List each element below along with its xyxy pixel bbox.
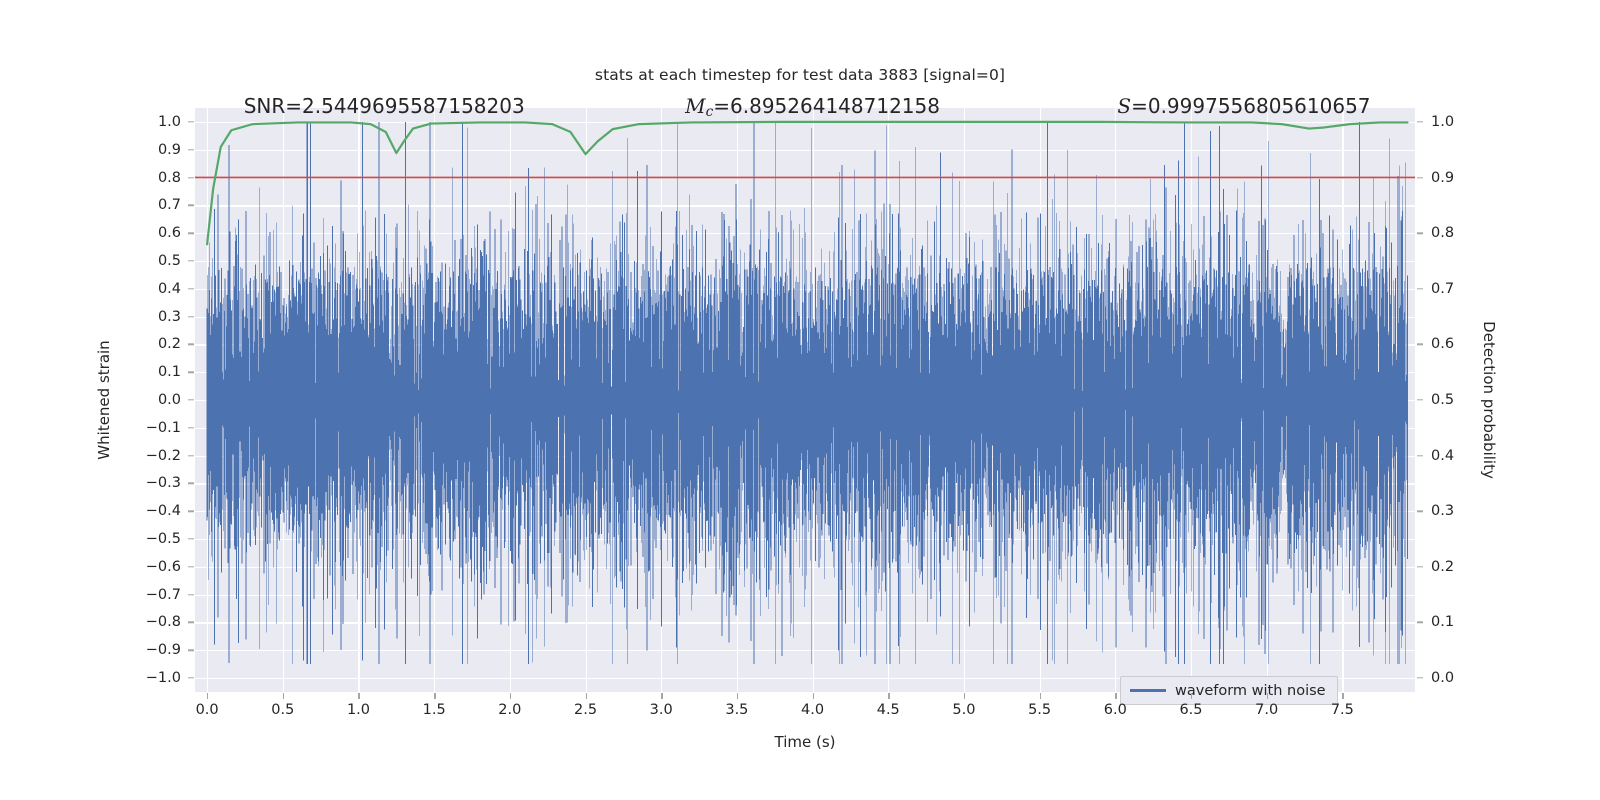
legend[interactable]: waveform with noise <box>1120 676 1338 705</box>
x-tick-mark <box>510 693 511 699</box>
y-tick-label-left: 0.9 <box>158 142 181 158</box>
x-tick-mark <box>661 693 662 699</box>
y-tick-mark-right <box>1417 121 1423 122</box>
x-tick-label: 2.5 <box>574 702 597 718</box>
y-tick-label-right: 0.3 <box>1431 503 1454 519</box>
y-tick-label-right: 0.6 <box>1431 336 1454 352</box>
x-tick-mark <box>283 693 284 699</box>
y-tick-label-left: −0.5 <box>146 531 181 547</box>
y-tick-mark-left <box>188 511 194 512</box>
y-tick-label-left: 0.3 <box>158 309 181 325</box>
y-tick-label-right: 0.5 <box>1431 392 1454 408</box>
x-tick-mark <box>964 693 965 699</box>
y-tick-mark-left <box>188 650 194 651</box>
y-tick-mark-right <box>1417 622 1423 623</box>
y-tick-label-left: −0.7 <box>146 587 181 603</box>
x-tick-label: 0.0 <box>196 702 219 718</box>
y-tick-label-left: 0.6 <box>158 225 181 241</box>
x-tick-mark <box>1191 693 1192 699</box>
x-tick-label: 4.5 <box>877 702 900 718</box>
y-tick-mark-left <box>188 344 194 345</box>
chirp-mass-symbol: M <box>685 94 705 118</box>
y-tick-label-left: −0.1 <box>146 420 181 436</box>
y-tick-label-left: 0.4 <box>158 281 181 297</box>
y-tick-label-left: −0.4 <box>146 503 181 519</box>
y-tick-mark-left <box>188 455 194 456</box>
x-tick-label: 1.5 <box>423 702 446 718</box>
y-tick-label-left: −0.9 <box>146 642 181 658</box>
y-tick-mark-left <box>188 594 194 595</box>
chirp-mass-subscript: c <box>706 104 714 120</box>
x-tick-mark <box>358 693 359 699</box>
y-tick-mark-left <box>188 316 194 317</box>
y-tick-mark-left <box>188 232 194 233</box>
x-tick-mark <box>1115 693 1116 699</box>
annotation-snr: SNR=2.5449695587158203 <box>244 94 525 118</box>
x-tick-label: 7.0 <box>1255 702 1278 718</box>
x-tick-label: 0.5 <box>271 702 294 718</box>
y-tick-mark-left <box>188 288 194 289</box>
y-tick-label-left: −0.3 <box>146 475 181 491</box>
y-tick-mark-left <box>188 538 194 539</box>
y-tick-label-right: 0.2 <box>1431 559 1454 575</box>
x-tick-label: 6.5 <box>1179 702 1202 718</box>
score-value: =0.9997556805610657 <box>1131 94 1370 118</box>
y-tick-mark-left <box>188 177 194 178</box>
y-tick-label-left: −0.8 <box>146 614 181 630</box>
x-tick-mark <box>207 693 208 699</box>
y-tick-label-left: 0.8 <box>158 170 181 186</box>
y-tick-label-right: 1.0 <box>1431 114 1454 130</box>
chirp-mass-value: =6.895264148712158 <box>713 94 940 118</box>
y-tick-label-left: 0.7 <box>158 197 181 213</box>
y-tick-mark-left <box>188 260 194 261</box>
y-axis-right-label: Detection probability <box>1480 321 1498 479</box>
x-tick-label: 3.5 <box>725 702 748 718</box>
y-tick-label-left: 0.2 <box>158 336 181 352</box>
x-tick-mark <box>813 693 814 699</box>
x-tick-label: 4.0 <box>801 702 824 718</box>
x-tick-label: 1.0 <box>347 702 370 718</box>
y-tick-mark-right <box>1417 511 1423 512</box>
y-tick-mark-right <box>1417 677 1423 678</box>
y-tick-label-left: 0.0 <box>158 392 181 408</box>
legend-swatch-waveform <box>1130 689 1166 692</box>
y-tick-mark-left <box>188 483 194 484</box>
y-tick-mark-left <box>188 677 194 678</box>
y-tick-label-right: 0.0 <box>1431 670 1454 686</box>
y-axis-left-label: Whitened strain <box>95 340 113 459</box>
y-tick-mark-right <box>1417 177 1423 178</box>
x-tick-label: 7.5 <box>1331 702 1354 718</box>
x-tick-mark <box>586 693 587 699</box>
y-tick-label-right: 0.9 <box>1431 170 1454 186</box>
y-tick-label-left: 1.0 <box>158 114 181 130</box>
y-tick-label-left: 0.1 <box>158 364 181 380</box>
legend-label-waveform: waveform with noise <box>1175 683 1326 699</box>
annotation-chirp-mass: Mc=6.895264148712158 <box>685 94 940 120</box>
x-tick-mark <box>1267 693 1268 699</box>
x-tick-mark <box>1040 693 1041 699</box>
y-tick-mark-left <box>188 566 194 567</box>
y-tick-label-left: 0.5 <box>158 253 181 269</box>
y-tick-mark-right <box>1417 566 1423 567</box>
x-tick-label: 5.0 <box>952 702 975 718</box>
score-symbol: S <box>1117 94 1131 118</box>
y-tick-label-left: −0.6 <box>146 559 181 575</box>
y-tick-mark-left <box>188 149 194 150</box>
figure-canvas: stats at each timestep for test data 388… <box>0 0 1600 800</box>
y-tick-mark-right <box>1417 399 1423 400</box>
x-tick-mark <box>888 693 889 699</box>
y-tick-mark-left <box>188 205 194 206</box>
annotation-score: S=0.9997556805610657 <box>1117 94 1370 118</box>
y-tick-mark-right <box>1417 288 1423 289</box>
y-tick-label-right: 0.1 <box>1431 614 1454 630</box>
x-tick-label: 2.0 <box>498 702 521 718</box>
y-tick-mark-left <box>188 371 194 372</box>
y-tick-mark-left <box>188 622 194 623</box>
x-tick-mark <box>737 693 738 699</box>
y-tick-label-right: 0.4 <box>1431 448 1454 464</box>
y-tick-label-left: −0.2 <box>146 448 181 464</box>
y-tick-mark-left <box>188 399 194 400</box>
x-axis-label: Time (s) <box>775 733 836 751</box>
y-tick-mark-right <box>1417 344 1423 345</box>
x-tick-label: 6.0 <box>1104 702 1127 718</box>
y-tick-label-left: −1.0 <box>146 670 181 686</box>
y-tick-label-right: 0.7 <box>1431 281 1454 297</box>
x-tick-mark <box>1342 693 1343 699</box>
y-tick-mark-right <box>1417 455 1423 456</box>
x-tick-label: 5.5 <box>1028 702 1051 718</box>
x-tick-label: 3.0 <box>650 702 673 718</box>
y-tick-mark-left <box>188 121 194 122</box>
y-tick-mark-left <box>188 427 194 428</box>
y-tick-mark-right <box>1417 232 1423 233</box>
x-tick-mark <box>434 693 435 699</box>
y-tick-label-right: 0.8 <box>1431 225 1454 241</box>
